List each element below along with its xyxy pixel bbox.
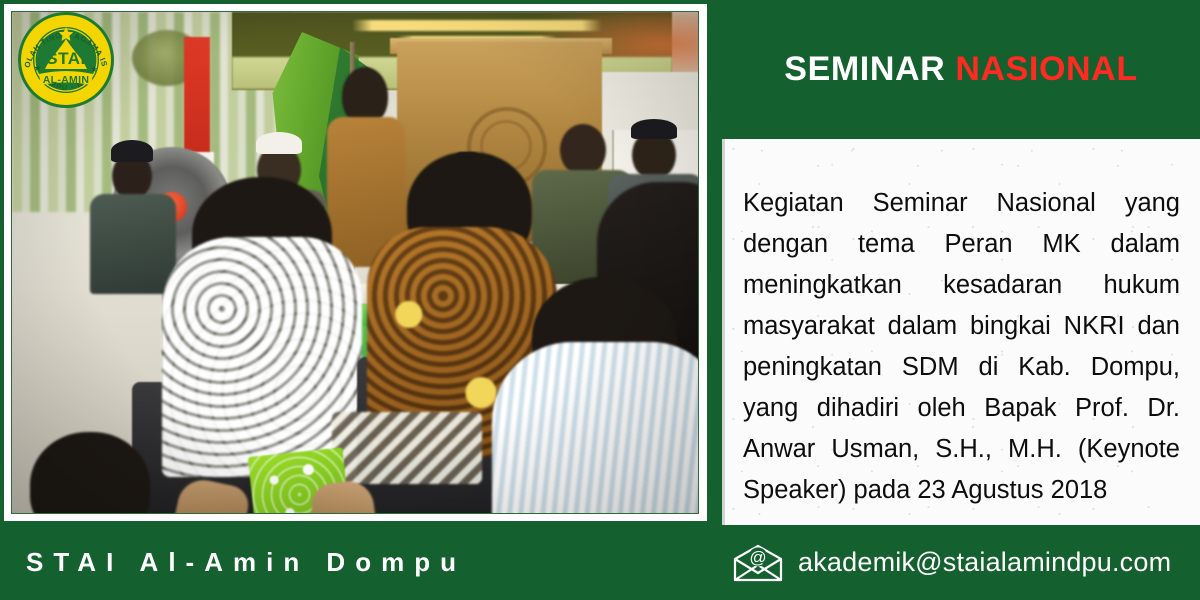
svg-text:@: @ [749, 548, 766, 567]
description-box: Kegiatan Seminar Nasional yang dengan te… [722, 139, 1200, 525]
title-bar: SEMINAR NASIONAL [722, 3, 1200, 136]
logo-banner-text: AL-AMIN [43, 74, 89, 86]
email-address[interactable]: akademik@staialamindpu.com [798, 547, 1171, 578]
description-text: Kegiatan Seminar Nasional yang dengan te… [743, 183, 1180, 511]
stai-al-amin-logo: SEKOLAH TINGGI AGAMA ISLAM ★ DOMPU - NTB… [16, 10, 116, 110]
contact-email-group[interactable]: @ akademik@staialamindpu.com [732, 525, 1171, 600]
page-title: SEMINAR NASIONAL [784, 50, 1137, 89]
text-panel: SEMINAR NASIONAL Kegiatan Seminar Nasion… [716, 0, 1200, 525]
footer-bar: STAI Al-Amin Dompu @ akademik@staialamin… [0, 525, 1200, 600]
title-primary: SEMINAR [784, 50, 945, 88]
title-accent: NASIONAL [955, 50, 1137, 88]
envelope-at-icon: @ [732, 543, 784, 583]
logo-inner-text: STAI [46, 49, 85, 68]
institution-name: STAI Al-Amin Dompu [26, 525, 466, 600]
poster-root: SEKOLAH TINGGI AGAMA ISLAM ★ DOMPU - NTB… [0, 0, 1200, 600]
